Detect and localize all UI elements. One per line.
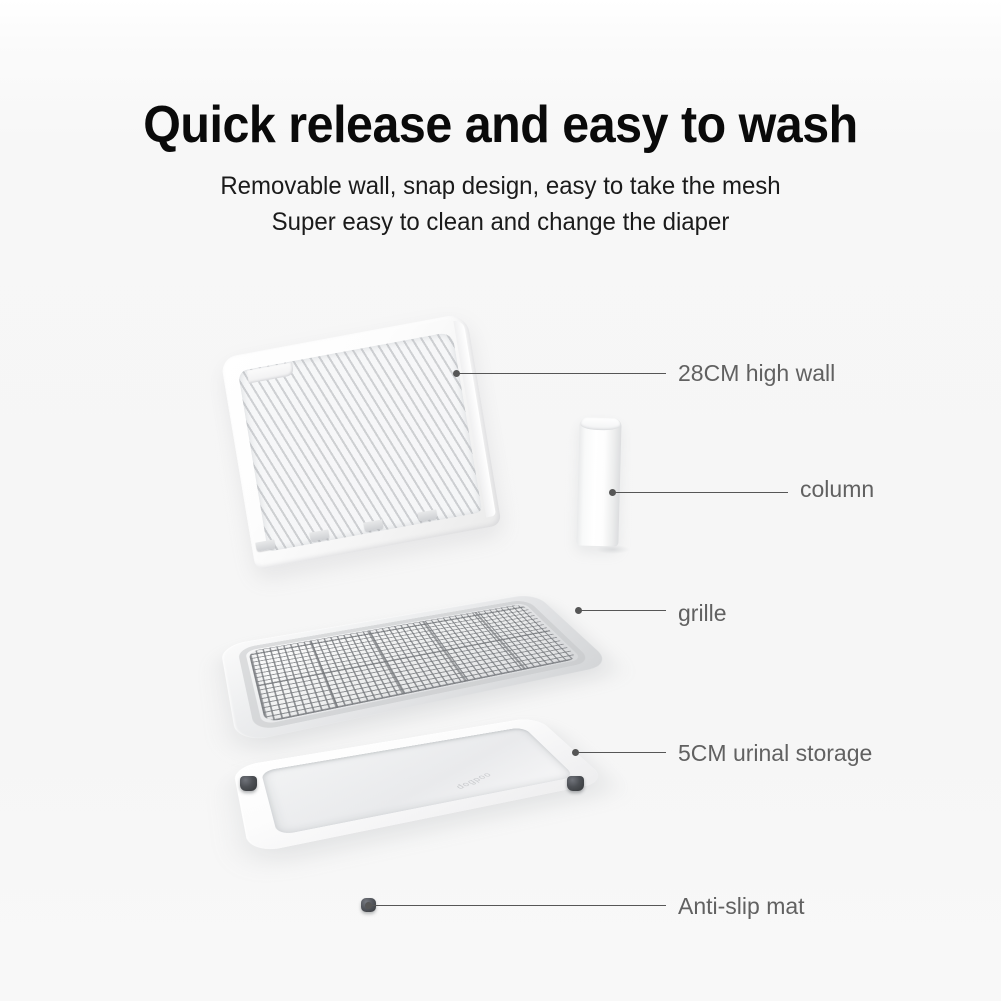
subtitle-line-1: Removable wall, snap design, easy to tak… — [20, 172, 981, 201]
anti-slip-foot — [240, 776, 257, 791]
product-part-column — [576, 417, 621, 546]
callout-leader-line-urinal-storage — [575, 752, 666, 753]
product-part-base-tray: dogpoo — [244, 700, 590, 848]
subtitle-line-2: Super easy to clean and change the diape… — [20, 208, 981, 237]
callout-label-column: column — [800, 478, 874, 501]
callout-label-grille: grille — [678, 602, 727, 625]
callout-leader-line-high-wall — [456, 373, 666, 374]
column-shadow — [596, 545, 630, 554]
callout-leader-line-grille — [578, 610, 666, 611]
callout-leader-line-column — [612, 492, 788, 493]
callout-label-anti-slip-mat: Anti-slip mat — [678, 895, 805, 918]
anti-slip-foot — [567, 776, 584, 791]
callout-label-urinal-storage: 5CM urinal storage — [678, 742, 872, 765]
callout-leader-line-anti-slip-mat — [368, 905, 666, 906]
wall-panel-frame — [220, 313, 501, 571]
product-part-wall-panel — [220, 313, 501, 571]
base-tray-basin — [261, 727, 575, 836]
callout-label-high-wall: 28CM high wall — [678, 362, 835, 385]
page-title: Quick release and easy to wash — [35, 98, 966, 153]
base-tray-top: dogpoo — [233, 717, 608, 855]
column-top-cap — [580, 417, 620, 430]
infographic-canvas: Quick release and easy to wash Removable… — [0, 0, 1001, 1001]
